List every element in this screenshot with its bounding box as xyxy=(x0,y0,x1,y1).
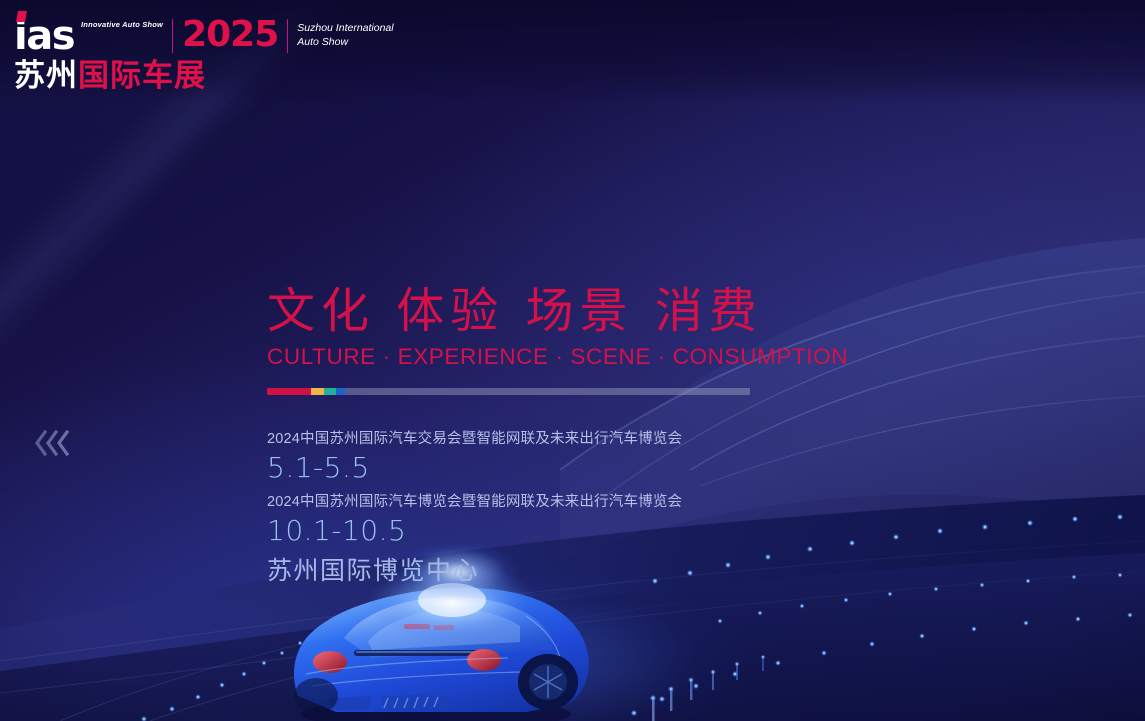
segment-red xyxy=(267,388,311,395)
chevron-left-icon xyxy=(56,430,69,456)
triple-chevron-left-icon xyxy=(34,430,67,456)
edition-year: 2025 xyxy=(182,16,278,54)
hero-headline-cn: 文化 体验 场景 消费 xyxy=(267,283,787,339)
event-venue: 苏州国际博览中心 xyxy=(267,554,827,588)
event-entry: 2024中国苏州国际汽车博览会暨智能网联及未来出行汽车博览会 10.1-10.5 xyxy=(267,491,827,550)
ias-tagline: Innovative Auto Show xyxy=(81,20,163,30)
show-chinese-name-rest: 国际车展 xyxy=(78,59,206,93)
logo-divider-1 xyxy=(172,19,173,53)
event-title: 2024中国苏州国际汽车博览会暨智能网联及未来出行汽车博览会 xyxy=(267,491,827,513)
slide-progress-bar[interactable] xyxy=(267,388,750,395)
show-chinese-name: 苏州国际车展 xyxy=(14,59,394,93)
hero-copy: 文化 体验 场景 消费 CULTURE · EXPERIENCE · SCENE… xyxy=(267,283,787,371)
hero-headline-en: CULTURE · EXPERIENCE · SCENE · CONSUMPTI… xyxy=(267,343,787,371)
carousel-prev-button[interactable] xyxy=(22,421,78,465)
show-english-name: Suzhou International Auto Show xyxy=(297,21,393,49)
show-chinese-name-city: 苏州 xyxy=(14,59,78,93)
segment-teal xyxy=(324,388,336,395)
event-info-block: 2024中国苏州国际汽车交易会暨智能网联及未来出行汽车博览会 5.1-5.5 2… xyxy=(267,428,827,588)
ias-wordmark: ias xyxy=(14,16,74,56)
event-date: 10.1-10.5 xyxy=(267,512,827,550)
ias-letters: ias xyxy=(14,16,74,56)
event-title: 2024中国苏州国际汽车交易会暨智能网联及未来出行汽车博览会 xyxy=(267,428,827,450)
slide-banner: ias Innovative Auto Show 2025 Suzhou Int… xyxy=(0,0,1145,721)
event-date: 5.1-5.5 xyxy=(267,449,827,487)
segment-blue xyxy=(336,388,345,395)
event-entry: 2024中国苏州国际汽车交易会暨智能网联及未来出行汽车博览会 5.1-5.5 xyxy=(267,428,827,487)
site-logo[interactable]: ias Innovative Auto Show 2025 Suzhou Int… xyxy=(14,16,394,93)
logo-divider-2 xyxy=(287,19,288,53)
segment-yellow xyxy=(311,388,324,395)
